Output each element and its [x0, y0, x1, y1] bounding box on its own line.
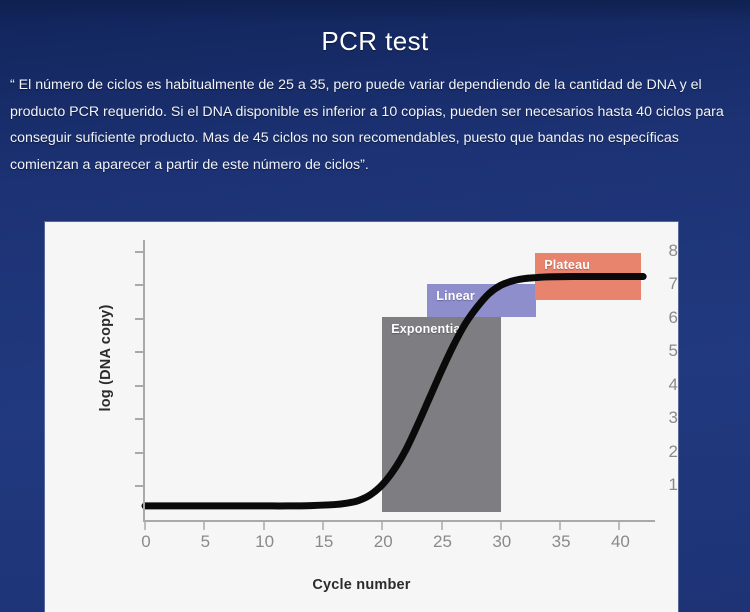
y-tick-mark — [135, 485, 143, 487]
y-tick-mark — [135, 351, 143, 353]
chart-region-exponential: Exponential — [382, 317, 501, 511]
y-tick-label: 8 — [608, 241, 678, 261]
chart-y-axis-label: log (DNA copy) — [98, 263, 114, 453]
y-tick-mark — [135, 284, 143, 286]
pcr-amplification-chart: log (DNA copy) Cycle number ExponentialL… — [45, 222, 678, 612]
chart-x-axis-line — [143, 520, 655, 522]
x-tick-label: 10 — [235, 532, 295, 552]
y-tick-mark — [135, 418, 143, 420]
y-tick-mark — [135, 452, 143, 454]
y-tick-label: 5 — [608, 341, 678, 361]
x-tick-label: 15 — [294, 532, 354, 552]
y-tick-mark — [135, 251, 143, 253]
x-tick-mark — [263, 522, 265, 530]
y-tick-label: 2 — [608, 442, 678, 462]
slide-body-text: “ El número de ciclos es habitualmente d… — [10, 72, 742, 178]
chart-region-linear: Linear — [427, 284, 536, 318]
y-tick-mark — [135, 385, 143, 387]
x-tick-mark — [144, 522, 146, 530]
x-tick-label: 30 — [472, 532, 532, 552]
slide-root: PCR test “ El número de ciclos es habitu… — [0, 0, 750, 612]
y-tick-label: 7 — [608, 274, 678, 294]
x-tick-label: 20 — [353, 532, 413, 552]
page-title: PCR test — [0, 26, 750, 57]
x-tick-mark — [322, 522, 324, 530]
x-tick-mark — [203, 522, 205, 530]
y-tick-label: 1 — [608, 475, 678, 495]
x-tick-mark — [559, 522, 561, 530]
chart-panel: log (DNA copy) Cycle number ExponentialL… — [45, 222, 678, 612]
y-tick-label: 6 — [608, 308, 678, 328]
chart-y-axis-line — [143, 240, 145, 522]
y-tick-label: 4 — [608, 375, 678, 395]
x-tick-mark — [500, 522, 502, 530]
x-tick-label: 5 — [175, 532, 235, 552]
x-tick-mark — [618, 522, 620, 530]
y-tick-label: 3 — [608, 408, 678, 428]
x-tick-mark — [441, 522, 443, 530]
x-tick-label: 35 — [531, 532, 591, 552]
chart-x-axis-label: Cycle number — [45, 577, 678, 593]
x-tick-label: 25 — [413, 532, 473, 552]
x-tick-mark — [381, 522, 383, 530]
x-tick-label: 0 — [116, 532, 176, 552]
x-tick-label: 40 — [590, 532, 650, 552]
y-tick-mark — [135, 318, 143, 320]
